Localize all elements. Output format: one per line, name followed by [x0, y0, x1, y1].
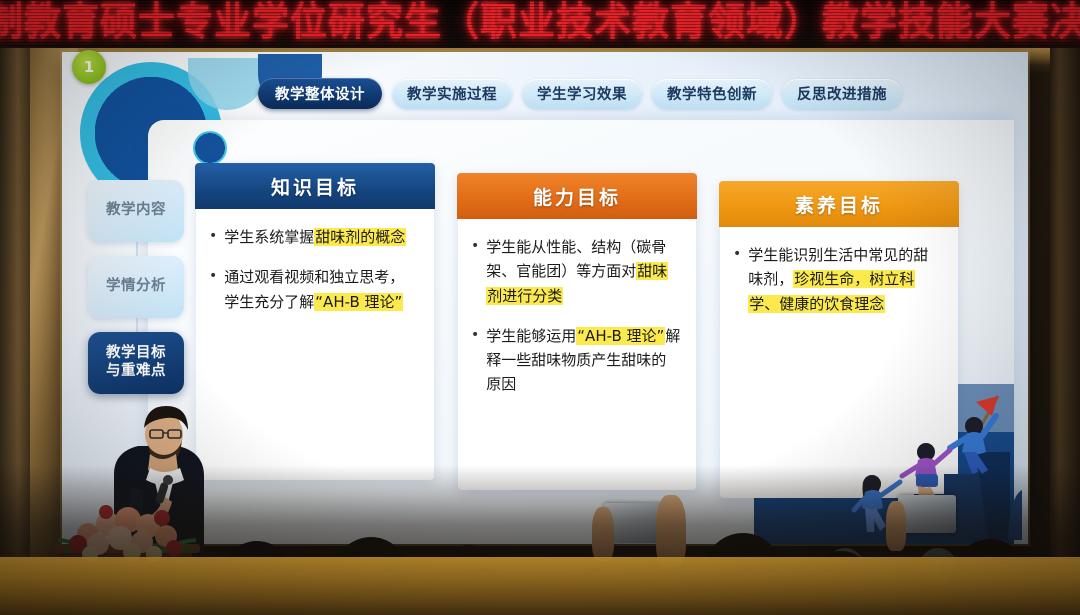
bullet-text: 学生能识别生活中常见的甜味剂，珍视生命，树立科学、健康的饮食理念 — [748, 243, 943, 316]
card-body-ability: • 学生能从性能、结构（碳骨架、官能团）等方面对甜味剂进行分类 • 学生能够运用… — [458, 219, 696, 419]
bullet-text-pre: 学生系统掌握 — [224, 228, 314, 246]
screenshot-root: 制教育硕士专业学位研究生（职业技术教育领域）教学技能大赛决赛 教学整体设计 教学… — [0, 0, 1080, 615]
bullet-dot-icon: • — [471, 235, 479, 308]
bullet-item: • 学生能够运用“AH-B 理论”解释一些甜味物质产生甜味的原因 — [471, 324, 681, 397]
bullet-text-highlight: “AH-B 理论” — [314, 293, 403, 311]
bullet-dot-icon: • — [209, 225, 217, 249]
tab-teaching-innovation[interactable]: 教学特色创新 — [652, 79, 772, 109]
tab-learning-outcomes[interactable]: 学生学习效果 — [522, 79, 642, 109]
tab-reflection-improvement[interactable]: 反思改进措施 — [782, 79, 902, 109]
card-ability-objective: 能力目标 • 学生能从性能、结构（碳骨架、官能团）等方面对甜味剂进行分类 • 学… — [458, 174, 696, 490]
bullet-item: • 通过观看视频和独立思考，学生充分了解“AH-B 理论” — [209, 265, 419, 314]
bullet-dot-icon: • — [209, 265, 217, 314]
decorative-small-ring — [193, 131, 227, 165]
stage-front-edge — [0, 557, 1080, 615]
bullet-text: 通过观看视频和独立思考，学生充分了解“AH-B 理论” — [224, 265, 419, 314]
sidebar-item-teaching-content[interactable]: 教学内容 — [88, 180, 184, 242]
slide-sidebar: 教学内容 学情分析 教学目标 与重难点 — [88, 180, 184, 394]
sidebar-item-label-line1: 教学目标 — [106, 345, 166, 363]
tab-overall-design[interactable]: 教学整体设计 — [258, 78, 382, 109]
tab-implementation-process[interactable]: 教学实施过程 — [392, 79, 512, 109]
sidebar-item-learner-analysis[interactable]: 学情分析 — [88, 256, 184, 318]
card-body-knowledge: • 学生系统掌握甜味剂的概念 • 通过观看视频和独立思考，学生充分了解“AH-B… — [196, 209, 434, 336]
bullet-text: 学生系统掌握甜味剂的概念 — [224, 225, 419, 249]
bullet-text: 学生能够运用“AH-B 理论”解释一些甜味物质产生甜味的原因 — [486, 324, 681, 397]
bullet-text: 学生能从性能、结构（碳骨架、官能团）等方面对甜味剂进行分类 — [486, 235, 681, 308]
card-title-literacy: 素养目标 — [719, 181, 959, 227]
bullet-dot-icon: • — [733, 243, 741, 316]
bullet-item: • 学生能识别生活中常见的甜味剂，珍视生命，树立科学、健康的饮食理念 — [733, 243, 943, 316]
bullet-text-pre: 学生能够运用 — [486, 327, 576, 345]
slide-page-badge: 1 — [72, 50, 106, 84]
bullet-item: • 学生系统掌握甜味剂的概念 — [209, 225, 419, 249]
bullet-dot-icon: • — [471, 324, 479, 397]
card-title-ability: 能力目标 — [457, 173, 697, 219]
bullet-text-highlight: 甜味剂的概念 — [314, 228, 406, 246]
bullet-text-highlight: “AH-B 理论” — [576, 327, 665, 345]
led-banner: 制教育硕士专业学位研究生（职业技术教育领域）教学技能大赛决赛 — [0, 0, 1080, 48]
slide-tab-bar: 教学整体设计 教学实施过程 学生学习效果 教学特色创新 反思改进措施 — [258, 78, 902, 109]
card-title-knowledge: 知识目标 — [195, 163, 435, 209]
card-knowledge-objective: 知识目标 • 学生系统掌握甜味剂的概念 • 通过观看视频和独立思考，学生充分了解… — [196, 164, 434, 480]
bullet-item: • 学生能从性能、结构（碳骨架、官能团）等方面对甜味剂进行分类 — [471, 235, 681, 308]
card-body-literacy: • 学生能识别生活中常见的甜味剂，珍视生命，树立科学、健康的饮食理念 — [720, 227, 958, 338]
led-banner-text: 制教育硕士专业学位研究生（职业技术教育领域）教学技能大赛决赛 — [0, 0, 1080, 47]
